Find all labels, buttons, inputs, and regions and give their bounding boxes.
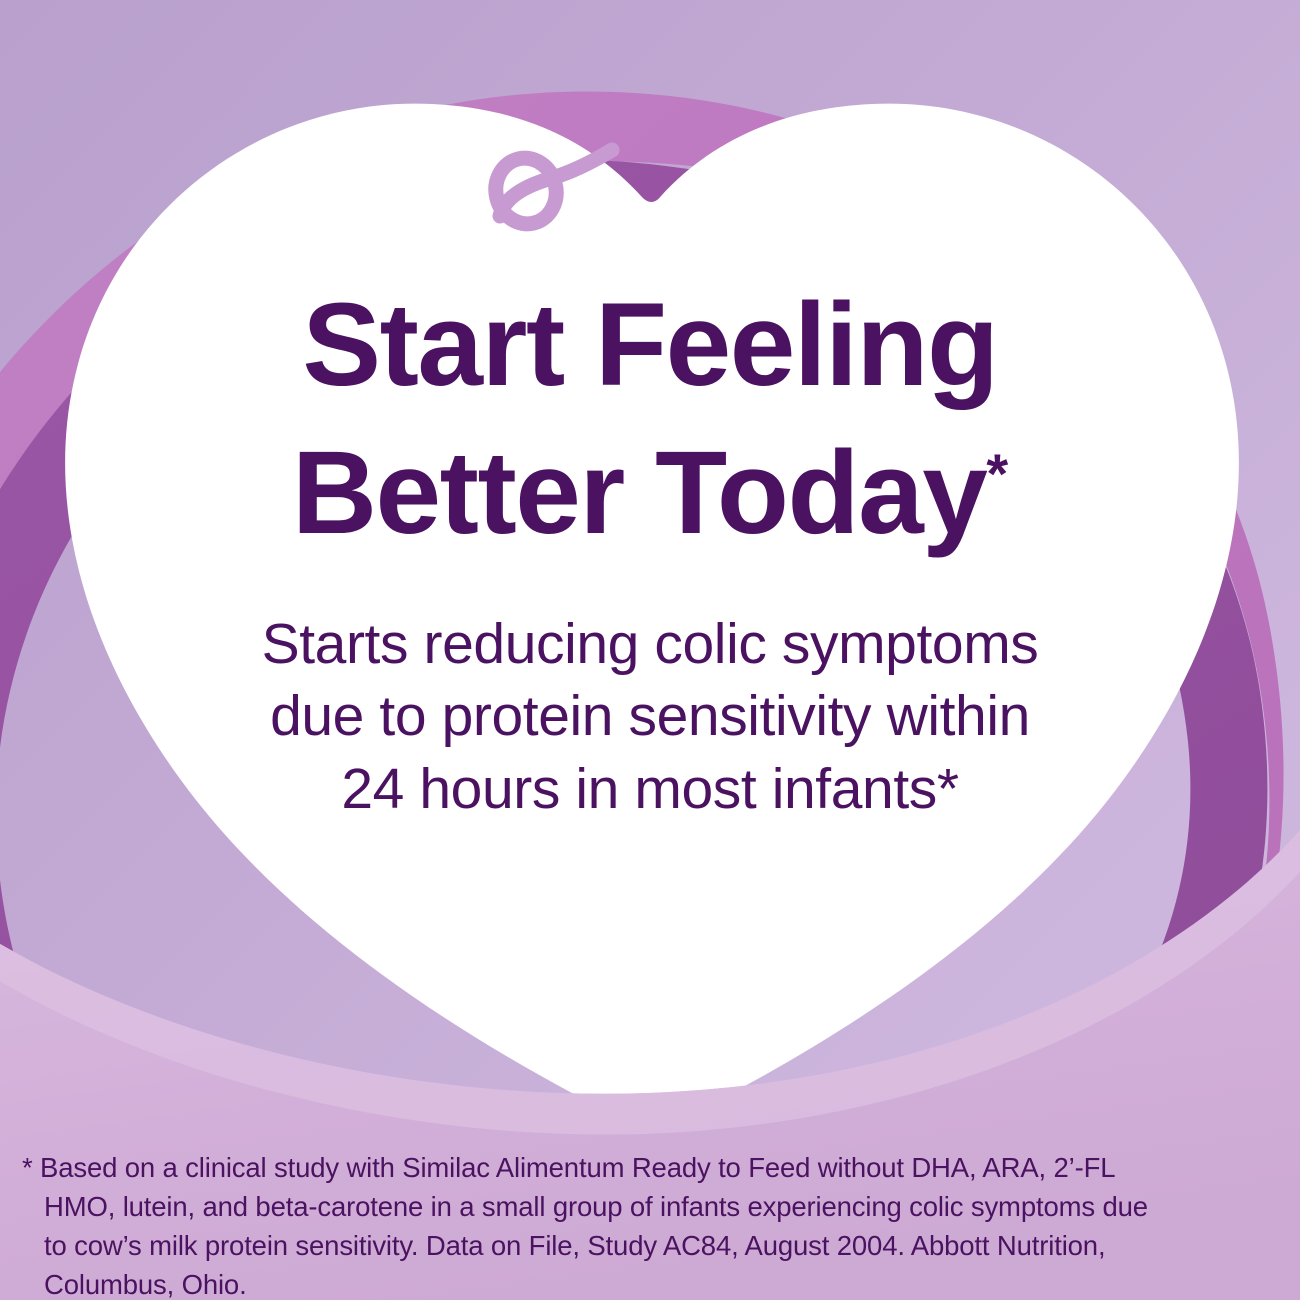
footnote-line-3: to cow’s milk protein sensitivity. Data … [22,1226,1262,1265]
footnote-line-4: Columbus, Ohio. [22,1265,1262,1300]
subheadline-line-1: Starts reducing colic symptoms [0,608,1300,680]
headline-line-2-text: Better Today [292,427,987,559]
footnote-line-1: * Based on a clinical study with Similac… [22,1148,1262,1187]
headline: Start Feeling Better Today* [0,272,1300,567]
footnote: * Based on a clinical study with Similac… [22,1148,1262,1300]
headline-asterisk: * [986,442,1008,505]
subheadline-line-3: 24 hours in most infants* [0,753,1300,825]
headline-line-2: Better Today* [0,420,1300,568]
footnote-line-2: HMO, lutein, and beta-carotene in a smal… [22,1187,1262,1226]
promo-poster: Start Feeling Better Today* Starts reduc… [0,0,1300,1300]
subheadline: Starts reducing colic symptoms due to pr… [0,608,1300,825]
subheadline-line-2: due to protein sensitivity within [0,680,1300,752]
headline-line-1: Start Feeling [0,272,1300,420]
poster-content: Start Feeling Better Today* Starts reduc… [0,0,1300,1300]
